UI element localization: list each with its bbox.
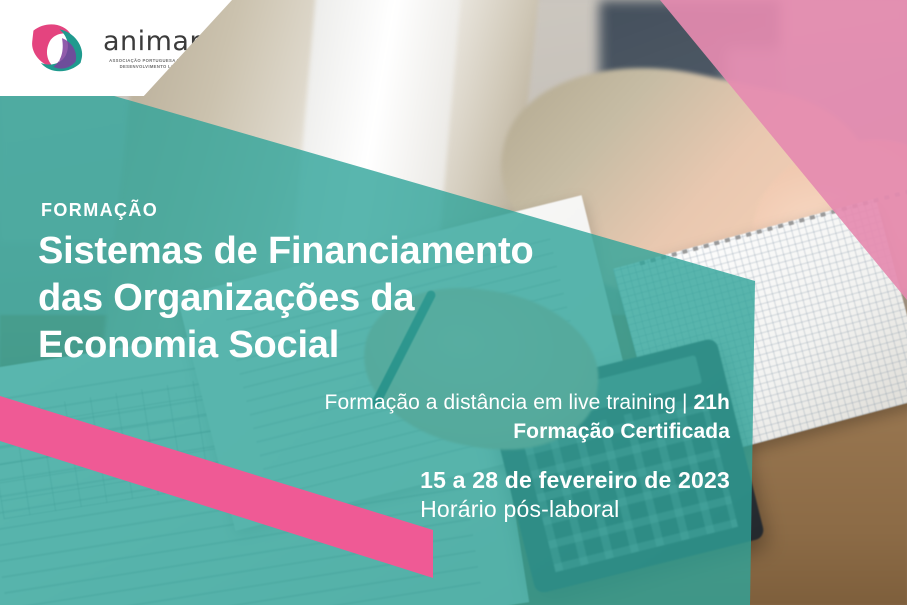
headline: Sistemas de Financiamento das Organizaçõ… [38,228,534,369]
headline-line-2: das Organizações da [38,275,534,322]
certification-line: Formação Certificada [325,418,730,445]
training-promo-poster: animar Associação Portuguesa para o Dese… [0,0,907,605]
modality-hours: 21h [694,391,731,414]
eyebrow-label: FORMAÇÃO [41,201,158,219]
headline-line-1: Sistemas de Financiamento [38,228,534,275]
modality-line: Formação a distância em live training | … [325,389,730,416]
modality-block: Formação a distância em live training | … [325,389,730,446]
headline-line-3: Economia Social [38,322,534,369]
modality-text: Formação a distância em live training | [325,391,694,414]
dates-range: 15 a 28 de fevereiro de 2023 [420,466,730,495]
schedule-note: Horário pós-laboral [420,495,730,524]
poster-copy: FORMAÇÃO Sistemas de Financiamento das O… [0,0,907,605]
dates-block: 15 a 28 de fevereiro de 2023 Horário pós… [420,466,730,525]
